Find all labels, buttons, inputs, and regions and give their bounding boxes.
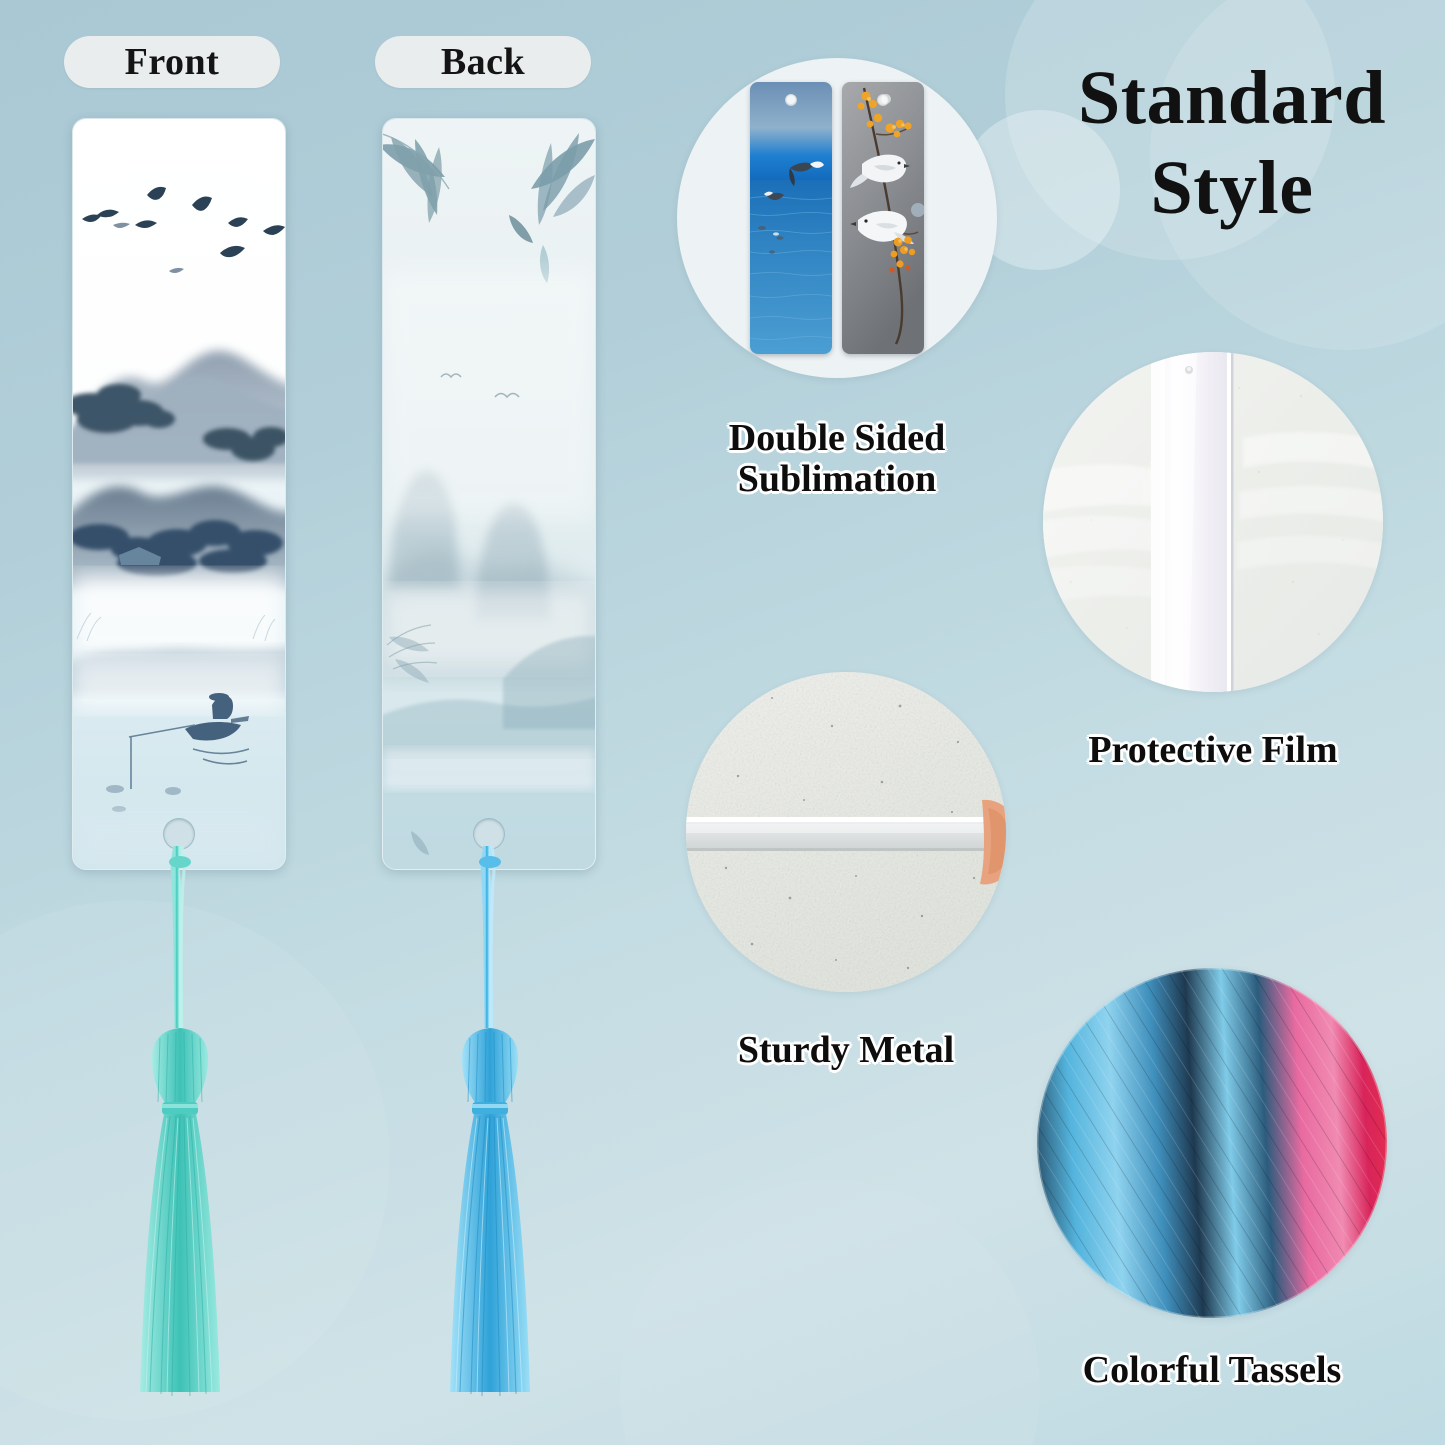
page-title-line-2: Style (1022, 144, 1442, 234)
feature-protective-film: Protective Film (1018, 352, 1408, 692)
page-title-line-1: Standard (1078, 56, 1386, 140)
sturdy-metal-photo-circle (686, 672, 1006, 992)
sublimation-samples (750, 82, 924, 354)
feature-label-double-sided-sublimation: Double Sided Sublimation (672, 418, 1002, 500)
protective-film-art (1043, 352, 1383, 692)
ocean-birds-sample (750, 82, 832, 354)
colorful-tassels-photo-circle (1037, 968, 1387, 1318)
protective-film-photo-circle (1043, 352, 1383, 692)
ocean-birds-art (750, 82, 832, 354)
sublimation-sample-hole (785, 94, 797, 106)
feature-label-line-1: Protective Film (1018, 730, 1408, 771)
feature-label-line-1: Double Sided (672, 418, 1002, 459)
product-infographic: Standard Style Front Back (0, 0, 1445, 1445)
feature-label-line-2: Sublimation (672, 459, 1002, 500)
feature-label-sturdy-metal: Sturdy Metal (666, 1030, 1026, 1071)
snow-birds-sample (842, 82, 924, 354)
back-view-label: Back (375, 36, 591, 88)
bookmark-front (72, 118, 286, 870)
back-view-label-text: Back (441, 40, 525, 84)
colorful-tassels-art (1037, 968, 1387, 1318)
bookmark-back (382, 118, 596, 870)
bookmark-front-artwork (73, 119, 285, 869)
snow-birds-art (842, 82, 924, 354)
sky-blue-tassel (430, 846, 550, 1406)
feature-label-colorful-tassels: Colorful Tassels (1012, 1350, 1412, 1391)
sky-blue-tassel-art (430, 846, 550, 1406)
feature-double-sided-sublimation: Double Sided Sublimation (672, 58, 1002, 378)
mint-green-tassel-art (120, 846, 240, 1406)
feature-colorful-tassels: Colorful Tassels (1012, 968, 1412, 1318)
sturdy-metal-art (686, 672, 1006, 992)
sublimation-sample-hole (877, 94, 889, 106)
feature-label-protective-film: Protective Film (1018, 730, 1408, 771)
front-view-label-text: Front (125, 40, 220, 84)
page-title: Standard Style (1022, 54, 1442, 233)
feature-label-line-1: Colorful Tassels (1012, 1350, 1412, 1391)
decorative-circle-5 (620, 1180, 1040, 1445)
feature-label-line-1: Sturdy Metal (666, 1030, 1026, 1071)
feature-sturdy-metal: Sturdy Metal (666, 672, 1026, 992)
mint-green-tassel (120, 846, 240, 1406)
front-view-label: Front (64, 36, 280, 88)
sublimation-photo-circle (677, 58, 997, 378)
bookmark-back-artwork (383, 119, 595, 869)
